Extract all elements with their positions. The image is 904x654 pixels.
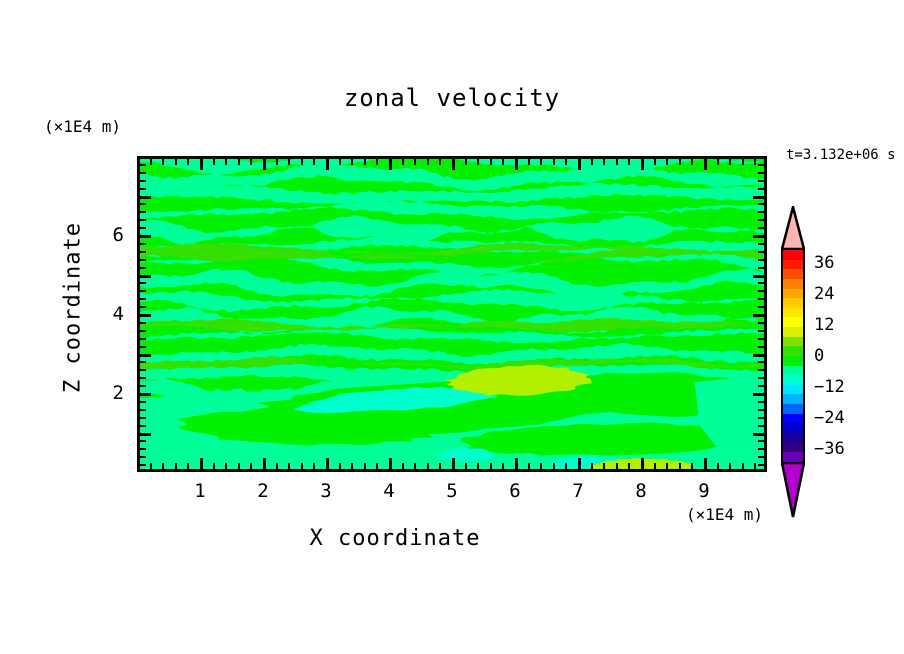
- contour-plot-area: [137, 156, 767, 472]
- x-tick-label: 6: [509, 480, 520, 502]
- y-axis-title: Z coordinate: [61, 208, 86, 408]
- colorbar-band: [783, 298, 803, 308]
- page-title: zonal velocity: [0, 84, 904, 112]
- x-tick-label: 5: [446, 480, 457, 502]
- x-axis-unit-label: (×1E4 m): [686, 505, 763, 524]
- colorbar-band: [783, 260, 803, 270]
- colorbar-band: [783, 433, 803, 443]
- colorbar-band: [783, 337, 803, 347]
- y-tick-label: 6: [106, 224, 124, 246]
- colorbar-band: [783, 279, 803, 289]
- colorbar-band: [783, 394, 803, 404]
- colorbar-tick-label: −12: [814, 377, 845, 397]
- velocity-field-contours: [140, 159, 764, 469]
- x-tick-label: 2: [257, 480, 268, 502]
- x-tick-label: 8: [635, 480, 646, 502]
- colorbar-tick-label: 36: [814, 253, 834, 273]
- x-tick-label: 7: [572, 480, 583, 502]
- colorbar-over-arrow: [781, 206, 805, 250]
- colorbar-band: [783, 289, 803, 299]
- colorbar-band: [783, 385, 803, 395]
- colorbar-tick-label: −36: [814, 439, 845, 459]
- colorbar-band: [783, 404, 803, 414]
- colorbar-band: [783, 346, 803, 356]
- y-tick-label: 4: [106, 303, 124, 325]
- x-axis-title: X coordinate: [0, 526, 790, 551]
- x-tick-label: 3: [320, 480, 331, 502]
- colorbar-band: [783, 308, 803, 318]
- colorbar-tick-label: 24: [814, 284, 834, 304]
- y-axis-unit-label: (×1E4 m): [44, 117, 121, 136]
- colorbar-band: [783, 452, 803, 462]
- colorbar-band: [783, 443, 803, 453]
- colorbar-band: [783, 250, 803, 260]
- x-tick-label: 9: [698, 480, 709, 502]
- colorbar-tick-label: 0: [814, 346, 824, 366]
- colorbar-band: [783, 423, 803, 433]
- colorbar-band: [783, 375, 803, 385]
- colorbar-band: [783, 269, 803, 279]
- colorbar-tick-label: −24: [814, 408, 845, 428]
- colorbar: [781, 248, 805, 464]
- x-tick-label: 4: [383, 480, 394, 502]
- colorbar-under-arrow: [781, 462, 805, 518]
- x-tick-label: 1: [194, 480, 205, 502]
- y-tick-label: 2: [106, 382, 124, 404]
- colorbar-band: [783, 414, 803, 424]
- colorbar-band: [783, 327, 803, 337]
- time-annotation: t=3.132e+06 s: [786, 147, 896, 163]
- colorbar-tick-label: 12: [814, 315, 834, 335]
- colorbar-band: [783, 356, 803, 366]
- colorbar-band: [783, 366, 803, 376]
- colorbar-band: [783, 317, 803, 327]
